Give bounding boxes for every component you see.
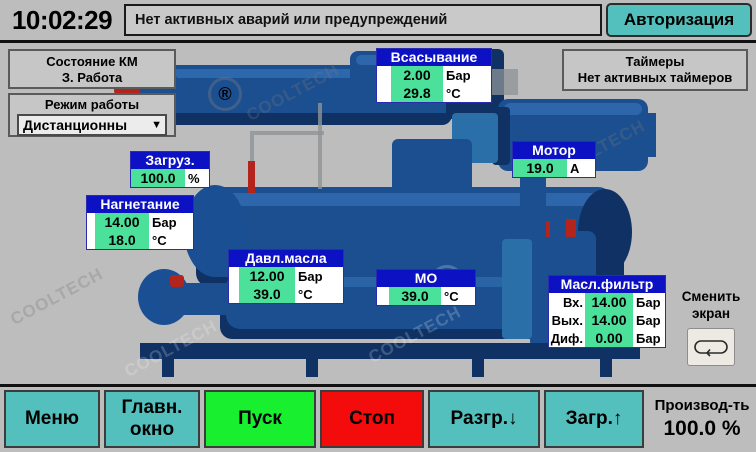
oil-filter-readout: Масл.фильтр Вх. 14.00 Бар Вых. 14.00 Бар…: [548, 275, 666, 348]
chevron-down-icon: ▼: [151, 120, 162, 131]
watermark-text: COOLTECH: [7, 264, 107, 330]
spacer: [229, 285, 239, 303]
stop-button[interactable]: Стоп: [320, 390, 424, 448]
suction-pressure-value: 2.00: [391, 66, 443, 84]
spacer: [377, 84, 391, 102]
load-unit: %: [185, 169, 209, 187]
main-process-view: ® ® COOLTECH COOLTECH COOLTECH COOLTECH …: [0, 43, 756, 378]
suction-temperature-value: 29.8: [391, 84, 443, 102]
oil-filter-title: Масл.фильтр: [549, 276, 665, 293]
oil-temperature-value: 39.0: [239, 285, 295, 303]
loop-return-icon: [694, 337, 728, 357]
compressor-state-value: З. Работа: [10, 70, 174, 86]
load-row: 100.0 %: [131, 169, 209, 187]
clock-display: 10:02:29: [0, 5, 124, 36]
suction-readout: Всасывание 2.00 Бар 29.8 °C: [376, 48, 492, 103]
oil-pressure-row-pressure: 12.00 Бар: [229, 267, 343, 285]
change-screen-label-line2: экран: [670, 305, 752, 322]
operating-mode-dropdown[interactable]: Дистанционны ▼: [17, 114, 167, 136]
oil-filter-outlet-label: Вых.: [549, 311, 585, 329]
load-increase-button[interactable]: Загр.↑: [544, 390, 644, 448]
capacity-label: Производ-ть: [655, 396, 750, 416]
spacer: [87, 231, 95, 249]
oil-temperature-unit: °C: [295, 285, 343, 303]
hmi-screen: 10:02:29 Нет активных аварий или предупр…: [0, 0, 756, 452]
discharge-temperature-value: 18.0: [95, 231, 149, 249]
motor-current-value: 19.0: [513, 159, 567, 177]
operating-mode-panel: Режим работы Дистанционны ▼: [8, 93, 176, 137]
start-button[interactable]: Пуск: [204, 390, 316, 448]
timers-value: Нет активных таймеров: [564, 70, 746, 86]
discharge-temperature-unit: °C: [149, 231, 193, 249]
change-screen-button[interactable]: [687, 328, 735, 366]
oil-pressure-readout: Давл.масла 12.00 Бар 39.0 °C: [228, 249, 344, 304]
spacer: [229, 267, 239, 285]
authorization-button[interactable]: Авторизация: [606, 3, 752, 37]
oil-pressure-title: Давл.масла: [229, 250, 343, 267]
compressor-state-title: Состояние КМ: [10, 54, 174, 70]
alarm-status-banner: Нет активных аварий или предупреждений: [124, 4, 602, 36]
oil-filter-differential-value: 0.00: [585, 329, 633, 347]
discharge-pressure-value: 14.00: [95, 213, 149, 231]
mo-temperature-value: 39.0: [389, 287, 441, 305]
main-window-button[interactable]: Главн. окно: [104, 390, 200, 448]
discharge-readout: Нагнетание 14.00 Бар 18.0 °C: [86, 195, 194, 250]
suction-temperature-unit: °C: [443, 84, 491, 102]
main-window-label-line1: Главн.: [122, 397, 183, 419]
spacer: [377, 287, 389, 305]
load-title: Загруз.: [131, 152, 209, 169]
mo-readout: МО 39.0 °C: [376, 269, 476, 306]
load-readout: Загруз. 100.0 %: [130, 151, 210, 188]
oil-filter-row-outlet: Вых. 14.00 Бар: [549, 311, 665, 329]
oil-filter-differential-unit: Бар: [633, 329, 665, 347]
mo-temperature-unit: °C: [441, 287, 475, 305]
motor-current-unit: A: [567, 159, 595, 177]
change-screen-label-line1: Сменить: [670, 288, 752, 305]
mo-title: МО: [377, 270, 475, 287]
oil-filter-row-differential: Диф. 0.00 Бар: [549, 329, 665, 347]
load-value: 100.0: [131, 169, 185, 187]
oil-filter-inlet-label: Вх.: [549, 293, 585, 311]
bottom-button-bar: Меню Главн. окно Пуск Стоп Разгр.↓ Загр.…: [0, 387, 756, 452]
mo-row-temperature: 39.0 °C: [377, 287, 475, 305]
oil-filter-row-inlet: Вх. 14.00 Бар: [549, 293, 665, 311]
oil-pressure-row-temperature: 39.0 °C: [229, 285, 343, 303]
spacer: [87, 213, 95, 231]
main-window-label-line2: окно: [122, 419, 183, 441]
timers-panel: Таймеры Нет активных таймеров: [562, 49, 748, 91]
operating-mode-selected-value: Дистанционны: [23, 117, 127, 133]
oil-filter-outlet-unit: Бар: [633, 311, 665, 329]
capacity-value: 100.0 %: [663, 416, 740, 442]
capacity-indicator: Производ-ть 100.0 %: [648, 390, 756, 448]
motor-readout: Мотор 19.0 A: [512, 141, 596, 178]
suction-row-pressure: 2.00 Бар: [377, 66, 491, 84]
oil-filter-outlet-value: 14.00: [585, 311, 633, 329]
menu-button[interactable]: Меню: [4, 390, 100, 448]
oil-filter-inlet-value: 14.00: [585, 293, 633, 311]
oil-pressure-value: 12.00: [239, 267, 295, 285]
motor-row-current: 19.0 A: [513, 159, 595, 177]
motor-title: Мотор: [513, 142, 595, 159]
discharge-pressure-unit: Бар: [149, 213, 193, 231]
compressor-state-panel: Состояние КМ З. Работа: [8, 49, 176, 89]
discharge-row-temperature: 18.0 °C: [87, 231, 193, 249]
unload-decrease-button[interactable]: Разгр.↓: [428, 390, 540, 448]
suction-title: Всасывание: [377, 49, 491, 66]
top-bar: 10:02:29 Нет активных аварий или предупр…: [0, 0, 756, 40]
oil-filter-inlet-unit: Бар: [633, 293, 665, 311]
discharge-title: Нагнетание: [87, 196, 193, 213]
spacer: [377, 66, 391, 84]
suction-pressure-unit: Бар: [443, 66, 491, 84]
suction-row-temperature: 29.8 °C: [377, 84, 491, 102]
discharge-row-pressure: 14.00 Бар: [87, 213, 193, 231]
oil-filter-differential-label: Диф.: [549, 329, 585, 347]
change-screen-control: Сменить экран: [670, 288, 752, 378]
operating-mode-title: Режим работы: [10, 97, 174, 113]
oil-pressure-unit: Бар: [295, 267, 343, 285]
timers-title: Таймеры: [564, 54, 746, 70]
